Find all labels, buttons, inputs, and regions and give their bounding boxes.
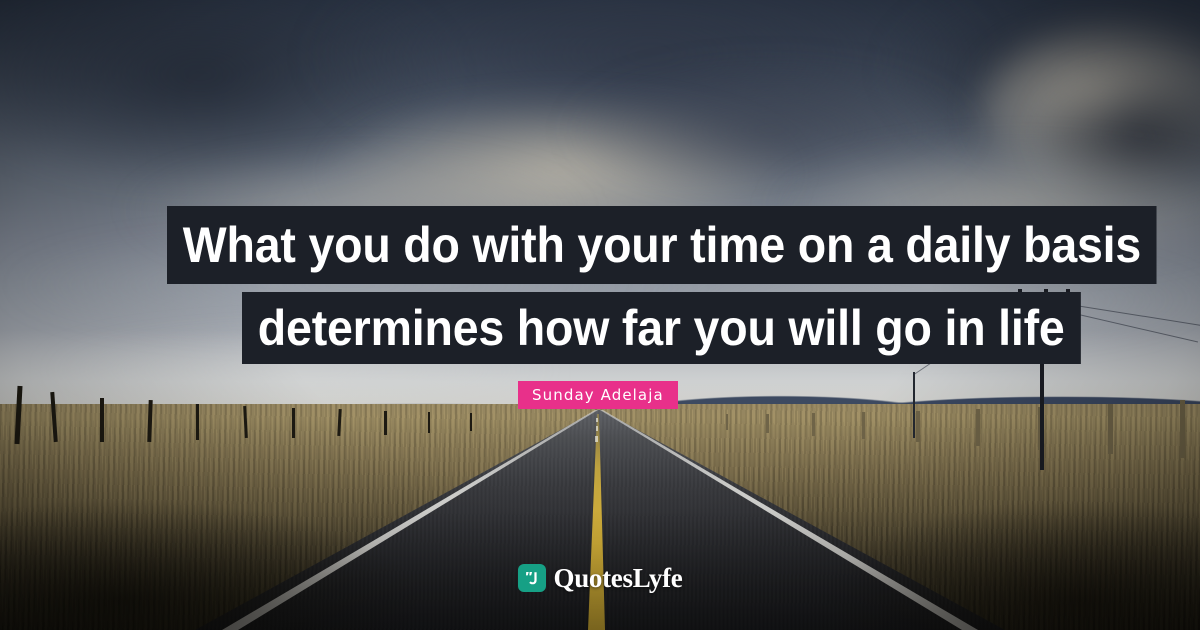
fence-post [292,408,295,438]
brand-name: QuotesLyfe [554,565,683,592]
utility-pole-distant [913,372,915,438]
fence-post [812,413,815,436]
fence-post [726,414,728,430]
author-badge[interactable]: Sunday Adelaja [518,381,678,409]
fence-post [470,413,472,431]
fence-post [428,412,430,433]
lane-dash [595,436,598,442]
utility-pole-insulator [1066,289,1070,297]
field-shadow-right [760,470,1200,630]
fence-post [384,411,387,435]
fence-post [196,404,199,440]
fence-post [1108,404,1113,454]
fence-post [100,398,104,442]
fence-post [1180,400,1185,458]
utility-pole [1040,292,1044,470]
brand-logo[interactable]: QuotesLyfe [0,564,1200,592]
quote-card: What you do with your time on a daily ba… [0,0,1200,630]
fence-post [766,414,769,433]
fence-post [916,411,920,442]
lane-dash [596,426,598,431]
quote-mark-icon [518,564,546,592]
field-shadow-left [0,470,520,630]
lane-dash [596,418,598,422]
fence-post [976,409,980,446]
fence-post [862,412,865,439]
utility-pole-insulator [1044,289,1048,297]
utility-pole-insulator [1018,289,1022,297]
